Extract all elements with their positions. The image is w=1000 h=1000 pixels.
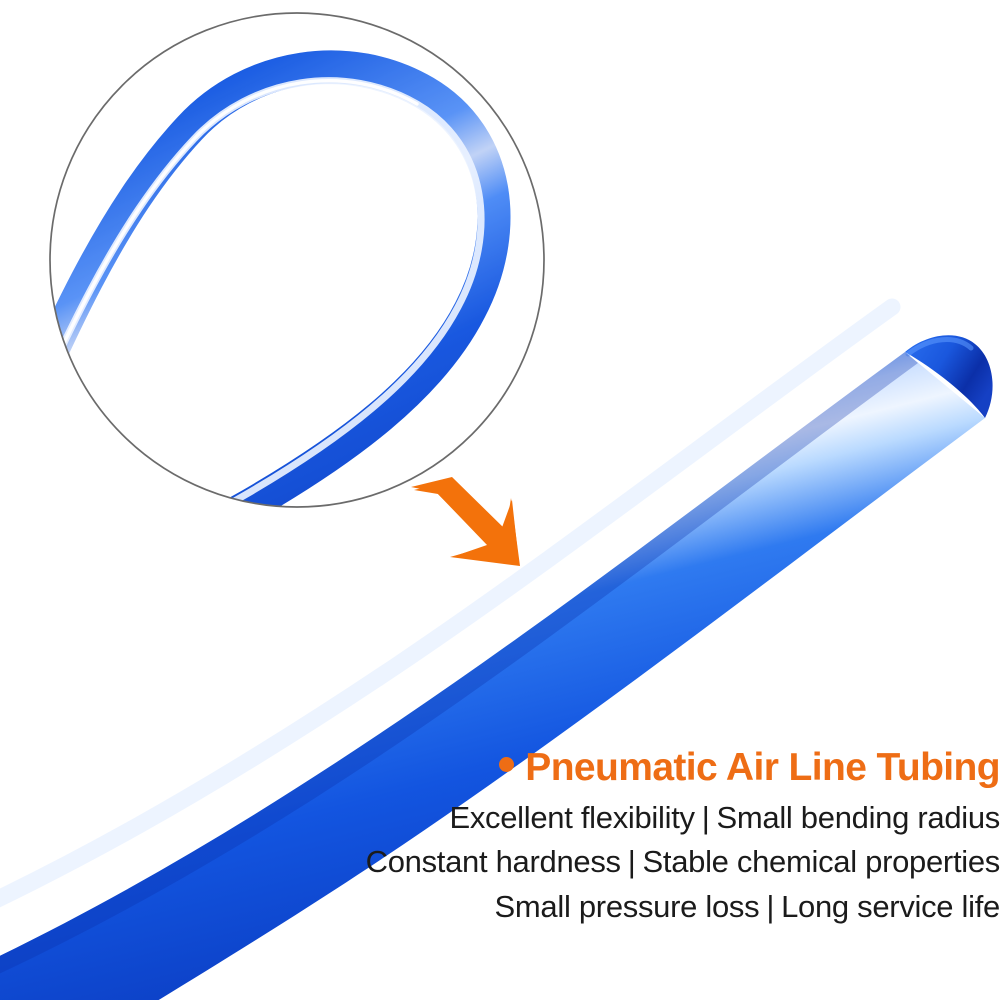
feature-separator: | bbox=[759, 885, 781, 929]
feature-callout: Pneumatic Air Line Tubing Excellent flex… bbox=[360, 748, 1000, 929]
bullet-point-icon bbox=[499, 757, 514, 772]
feature-row-2: Constant hardness|Stable chemical proper… bbox=[360, 840, 1000, 884]
feature-row-1: Excellent flexibility|Small bending radi… bbox=[360, 796, 1000, 840]
product-title-row: Pneumatic Air Line Tubing bbox=[360, 748, 1000, 787]
feature-3-left: Small pressure loss bbox=[495, 889, 760, 924]
feature-2-left: Constant hardness bbox=[366, 844, 621, 879]
product-title: Pneumatic Air Line Tubing bbox=[525, 748, 1000, 787]
feature-row-3: Small pressure loss|Long service life bbox=[360, 885, 1000, 929]
product-image-canvas: Pneumatic Air Line Tubing Excellent flex… bbox=[0, 0, 1000, 1000]
feature-1-right: Small bending radius bbox=[716, 800, 1000, 835]
magnifier-circle-outline bbox=[50, 13, 544, 507]
feature-separator: | bbox=[621, 840, 643, 884]
feature-3-right: Long service life bbox=[781, 889, 1000, 924]
orange-arrow-icon bbox=[411, 477, 520, 566]
feature-1-left: Excellent flexibility bbox=[449, 800, 694, 835]
feature-2-right: Stable chemical properties bbox=[643, 844, 1000, 879]
feature-separator: | bbox=[695, 796, 717, 840]
magnifier-content bbox=[0, 67, 494, 590]
